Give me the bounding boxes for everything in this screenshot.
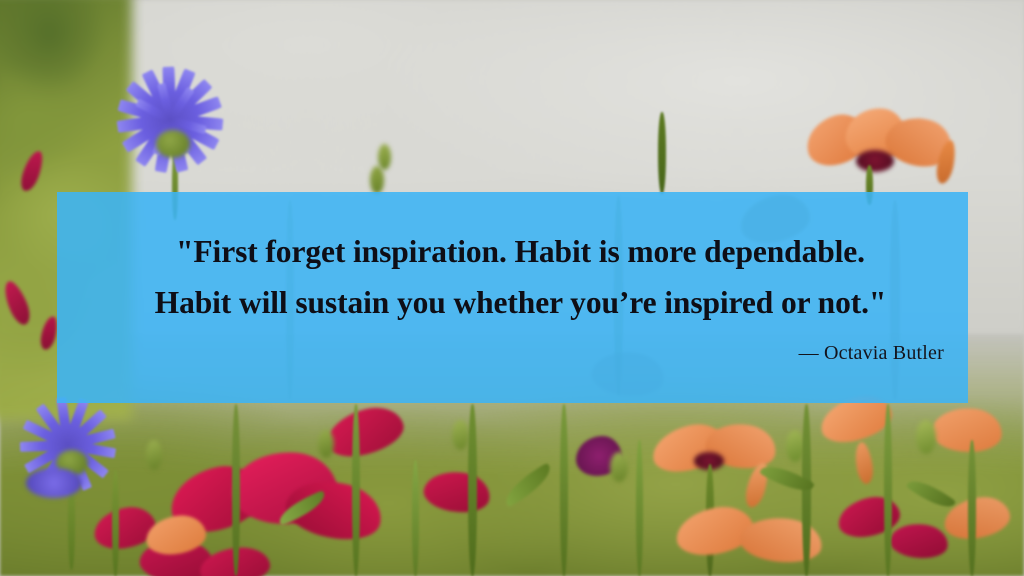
- green-bud-top-center-left: [370, 166, 384, 194]
- meadow-stem-4: [468, 404, 477, 576]
- cornflower-calyx-main: [156, 130, 190, 158]
- green-bud-center-a: [452, 420, 469, 450]
- meadow-stem-8: [968, 440, 976, 576]
- meadow-stem-5: [560, 404, 568, 576]
- slim-stem-top-center: [658, 112, 666, 194]
- quote-overlay-card: "First forget inspiration. Habit is more…: [57, 192, 968, 403]
- green-bud-top-center: [378, 144, 391, 170]
- cornflower-small-lower-left: [26, 468, 82, 498]
- meadow-stem-10: [412, 460, 419, 576]
- orange-poppy-center-top: [856, 150, 894, 172]
- meadow-stem-1: [112, 470, 119, 576]
- meadow-stem-3: [352, 404, 360, 576]
- green-bud-left-a: [146, 440, 162, 470]
- quote-line-1: "First forget inspiration. Habit is more…: [91, 226, 950, 277]
- green-bud-right-a: [916, 420, 936, 454]
- quote-line-2: Habit will sustain you whether you’re in…: [91, 277, 950, 328]
- meadow-stem-7: [884, 404, 892, 576]
- quote-image-canvas: "First forget inspiration. Habit is more…: [0, 0, 1024, 576]
- green-bud-center-b: [318, 430, 334, 458]
- quote-attribution: — Octavia Butler: [91, 342, 944, 365]
- meadow-stem-2: [232, 404, 240, 576]
- meadow-stem-9: [636, 440, 643, 576]
- green-bud-right-b: [610, 452, 628, 482]
